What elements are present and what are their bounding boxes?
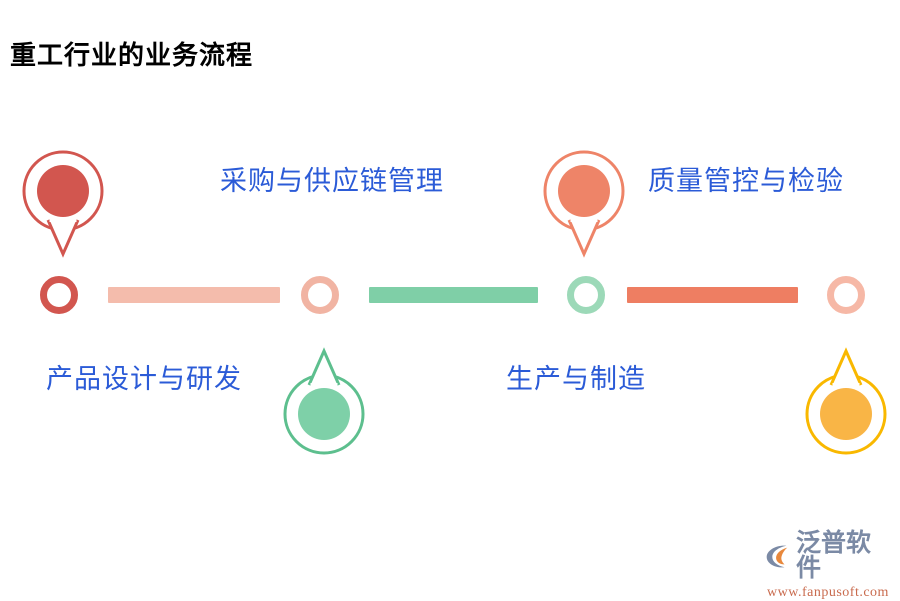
watermark-brand-name: 泛普软件 (796, 531, 894, 581)
pin-inner-dot (558, 165, 610, 217)
ring-1[interactable] (40, 276, 78, 314)
stage-production: 生产与制造 (506, 357, 646, 396)
pin-quality[interactable] (803, 343, 889, 429)
pin-product-design[interactable] (20, 148, 106, 234)
pin-tail (569, 220, 599, 254)
pin-joint-mask (50, 218, 77, 222)
pin-tail (831, 351, 861, 385)
pin-inner-dot (37, 165, 89, 217)
pin-inner-dot (298, 388, 350, 440)
pin-inner-dot (820, 388, 872, 440)
pin-joint-mask (571, 218, 598, 222)
page-title: 重工行业的业务流程 (10, 35, 253, 72)
fanpu-logo-icon (762, 541, 792, 571)
pin-tail (309, 351, 339, 385)
track-2 (369, 287, 538, 303)
pin-joint-mask (311, 383, 338, 387)
watermark-url: www.fanpusoft.com (762, 585, 894, 601)
pin-joint-mask (833, 383, 860, 387)
track-1 (108, 287, 280, 303)
stage-product-design: 产品设计与研发 (46, 357, 242, 396)
pin-procurement[interactable] (541, 148, 627, 234)
ring-3[interactable] (567, 276, 605, 314)
stage-quality: 质量管控与检验 (648, 159, 844, 198)
pin-production[interactable] (281, 343, 367, 429)
track-3 (627, 287, 798, 303)
watermark-logo-row: 泛普软件 (762, 531, 894, 581)
ring-4[interactable] (827, 276, 865, 314)
infographic-canvas: 重工行业的业务流程 采购与供应链管理质量管控与检验产品设计与研发生产与制造 泛普… (0, 0, 900, 600)
stage-procurement: 采购与供应链管理 (220, 159, 444, 198)
ring-2[interactable] (301, 276, 339, 314)
pin-tail (48, 220, 78, 254)
watermark-logo: 泛普软件 www.fanpusoft.com (762, 531, 894, 591)
